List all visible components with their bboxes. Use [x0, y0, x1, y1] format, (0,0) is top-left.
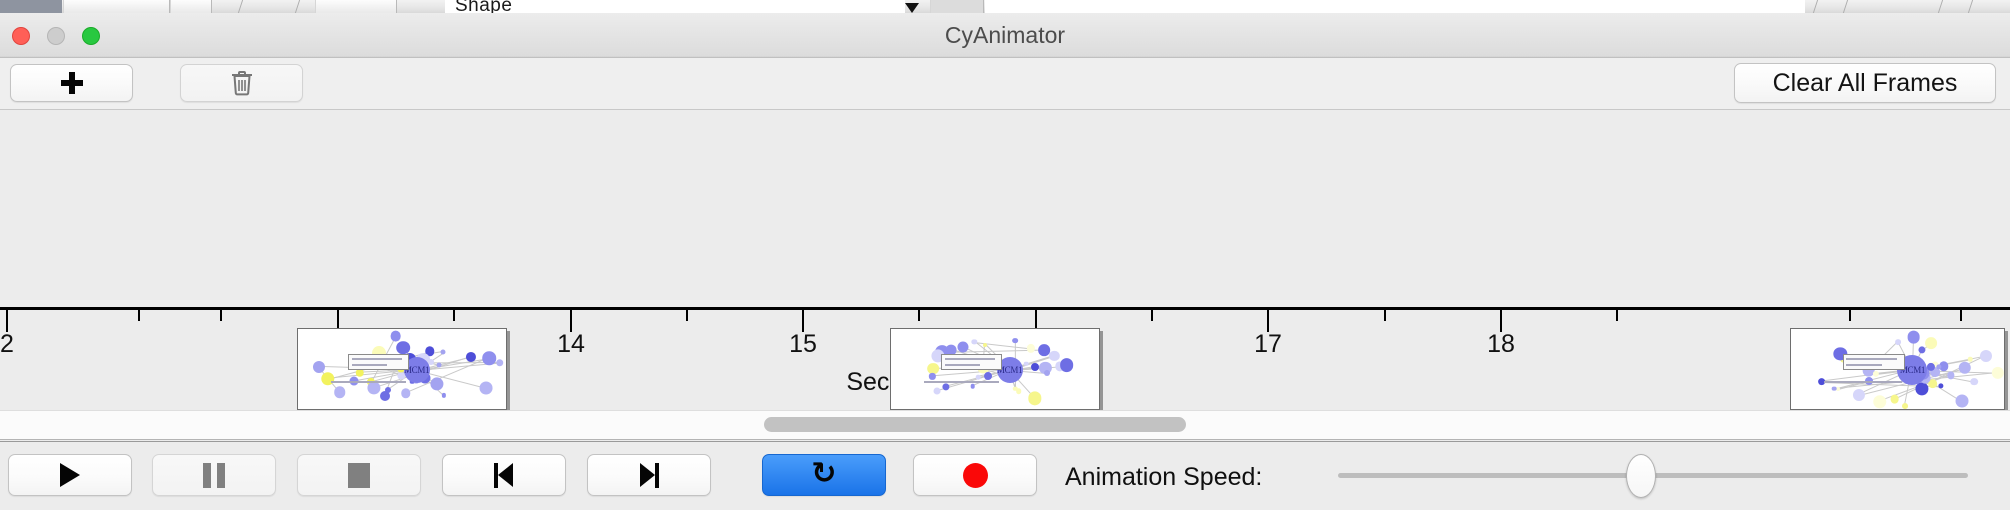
network-node	[441, 350, 446, 355]
background-divider	[1968, 0, 1973, 13]
network-node	[1031, 363, 1039, 371]
stop-icon	[348, 463, 370, 488]
stop-button[interactable]	[297, 454, 421, 496]
background-tab	[930, 0, 984, 13]
axis-tick-major	[6, 310, 8, 332]
axis-tick-major	[802, 310, 804, 332]
network-annotation-box	[348, 354, 409, 370]
network-node	[482, 351, 496, 365]
axis-tick-major	[570, 310, 572, 332]
pause-button[interactable]	[152, 454, 276, 496]
network-node	[1992, 367, 2004, 379]
play-button[interactable]	[8, 454, 132, 496]
network-annotation-text	[1846, 364, 1883, 366]
background-divider	[238, 0, 243, 13]
network-node	[1873, 371, 1879, 377]
network-node	[479, 381, 492, 394]
network-caption-text	[1824, 381, 1901, 383]
frame-thumbnail[interactable]: MCM1	[297, 328, 507, 410]
network-node	[1832, 386, 1837, 391]
axis-tick-label: 2	[0, 330, 14, 359]
background-divider	[1938, 0, 1943, 13]
background-panel	[985, 0, 1805, 13]
playback-control-bar: ↻ Animation Speed:	[0, 441, 2010, 510]
network-node	[984, 372, 992, 380]
axis-tick-minor	[1616, 310, 1618, 321]
network-node	[367, 381, 380, 394]
network-node	[1853, 389, 1865, 401]
network-node	[934, 388, 941, 395]
next-frame-button[interactable]	[587, 454, 711, 496]
axis-tick-minor	[918, 310, 920, 321]
network-node	[1918, 347, 1925, 354]
network-node	[1968, 357, 1973, 362]
background-panel	[445, 0, 905, 13]
network-node	[334, 387, 346, 399]
animation-speed-thumb[interactable]	[1626, 454, 1656, 498]
axis-tick-label: 18	[1487, 330, 1515, 359]
axis-tick-label: 14	[557, 330, 585, 359]
network-node	[1980, 350, 1992, 362]
network-node	[1060, 358, 1074, 372]
network-node	[1028, 392, 1041, 405]
network-annotation-box	[941, 354, 1002, 370]
network-node	[436, 363, 441, 368]
network-annotation-text	[945, 364, 981, 366]
animation-speed-label: Animation Speed:	[1065, 463, 1262, 492]
background-shape-label: Shape	[455, 0, 512, 13]
clear-all-frames-button[interactable]: Clear All Frames	[1734, 63, 1996, 103]
network-node	[1902, 403, 1908, 409]
previous-frame-button[interactable]	[442, 454, 566, 496]
axis-tick-minor	[1960, 310, 1962, 321]
frame-network-preview: MCM1	[298, 329, 506, 409]
network-annotation-text	[1846, 358, 1898, 360]
network-node	[1915, 383, 1928, 396]
window-titlebar: CyAnimator	[0, 13, 2010, 58]
network-node	[1012, 338, 1018, 344]
network-caption-text	[331, 381, 407, 383]
timeline-panel[interactable]: 2131415161718 Seconds MCM1MCM1MCM1	[0, 110, 2010, 410]
network-node	[1907, 330, 1920, 343]
skip-back-icon	[491, 463, 517, 488]
trash-icon	[229, 69, 255, 97]
network-node	[442, 393, 446, 397]
axis-tick-minor	[453, 310, 455, 321]
timeline-scrollbar-thumb[interactable]	[764, 417, 1186, 432]
network-node	[390, 331, 401, 342]
network-node	[430, 378, 443, 391]
add-frame-button[interactable]	[10, 64, 133, 102]
background-divider	[295, 0, 300, 13]
network-annotation-box	[1843, 354, 1905, 370]
network-node	[970, 384, 975, 389]
record-icon	[963, 463, 988, 488]
network-annotation-text	[352, 358, 402, 360]
axis-tick-minor	[1384, 310, 1386, 321]
timeline-axis	[0, 307, 2010, 310]
axis-tick-label: 15	[789, 330, 817, 359]
network-node	[1955, 394, 1968, 407]
network-node	[1049, 350, 1059, 360]
loop-button[interactable]: ↻	[762, 454, 886, 496]
animation-speed-slider[interactable]	[1338, 454, 1968, 496]
axis-tick-minor	[1849, 310, 1851, 321]
frame-network-preview: MCM1	[1791, 329, 2004, 409]
background-window-strip: Shape	[0, 0, 2010, 13]
network-node	[1925, 337, 1937, 349]
pause-icon	[203, 463, 225, 488]
axis-tick-minor	[138, 310, 140, 321]
axis-tick-minor	[1151, 310, 1153, 321]
network-node	[1044, 370, 1050, 376]
record-button[interactable]	[913, 454, 1037, 496]
network-node	[929, 373, 935, 379]
play-icon	[60, 463, 80, 487]
background-tab	[63, 0, 170, 13]
background-divider	[1843, 0, 1848, 13]
frame-network-preview: MCM1	[891, 329, 1099, 409]
loop-icon: ↻	[811, 459, 836, 489]
network-node	[983, 343, 987, 347]
background-tab	[315, 0, 397, 13]
axis-tick-major	[1500, 310, 1502, 332]
network-node	[313, 361, 325, 373]
axis-tick-major	[1267, 310, 1269, 332]
network-node	[942, 383, 949, 390]
network-caption-text	[924, 381, 1000, 383]
network-node	[396, 341, 410, 355]
window-title: CyAnimator	[0, 22, 2010, 49]
frame-thumbnail[interactable]: MCM1	[1790, 328, 2005, 410]
timeline-scrollbar[interactable]	[0, 410, 2010, 440]
network-node	[1024, 361, 1029, 366]
frame-toolbar: Clear All Frames	[0, 58, 2010, 110]
network-node	[1027, 344, 1035, 352]
network-node	[1970, 378, 1978, 386]
frame-thumbnail[interactable]: MCM1	[890, 328, 1100, 410]
network-node	[976, 375, 981, 380]
delete-frame-button[interactable]	[180, 64, 303, 102]
network-node	[380, 391, 390, 401]
background-caret-icon	[905, 3, 919, 13]
skip-forward-icon	[636, 463, 662, 488]
cyanimator-window: Shape CyAnimator Clear All Frames	[0, 0, 2010, 510]
network-node	[496, 359, 504, 367]
background-window-titlebar-fragment	[0, 0, 62, 13]
network-node	[401, 389, 410, 398]
axis-tick-minor	[220, 310, 222, 321]
axis-tick-minor	[686, 310, 688, 321]
network-annotation-text	[352, 364, 388, 366]
network-node	[1938, 383, 1943, 388]
network-node	[1890, 395, 1899, 404]
network-node	[1016, 389, 1022, 395]
network-node	[1895, 339, 1901, 345]
axis-tick-label: 17	[1254, 330, 1282, 359]
background-tab	[170, 0, 212, 13]
network-node	[1873, 395, 1886, 408]
network-annotation-text	[945, 358, 995, 360]
plus-icon	[60, 71, 84, 95]
background-divider	[1813, 0, 1818, 13]
